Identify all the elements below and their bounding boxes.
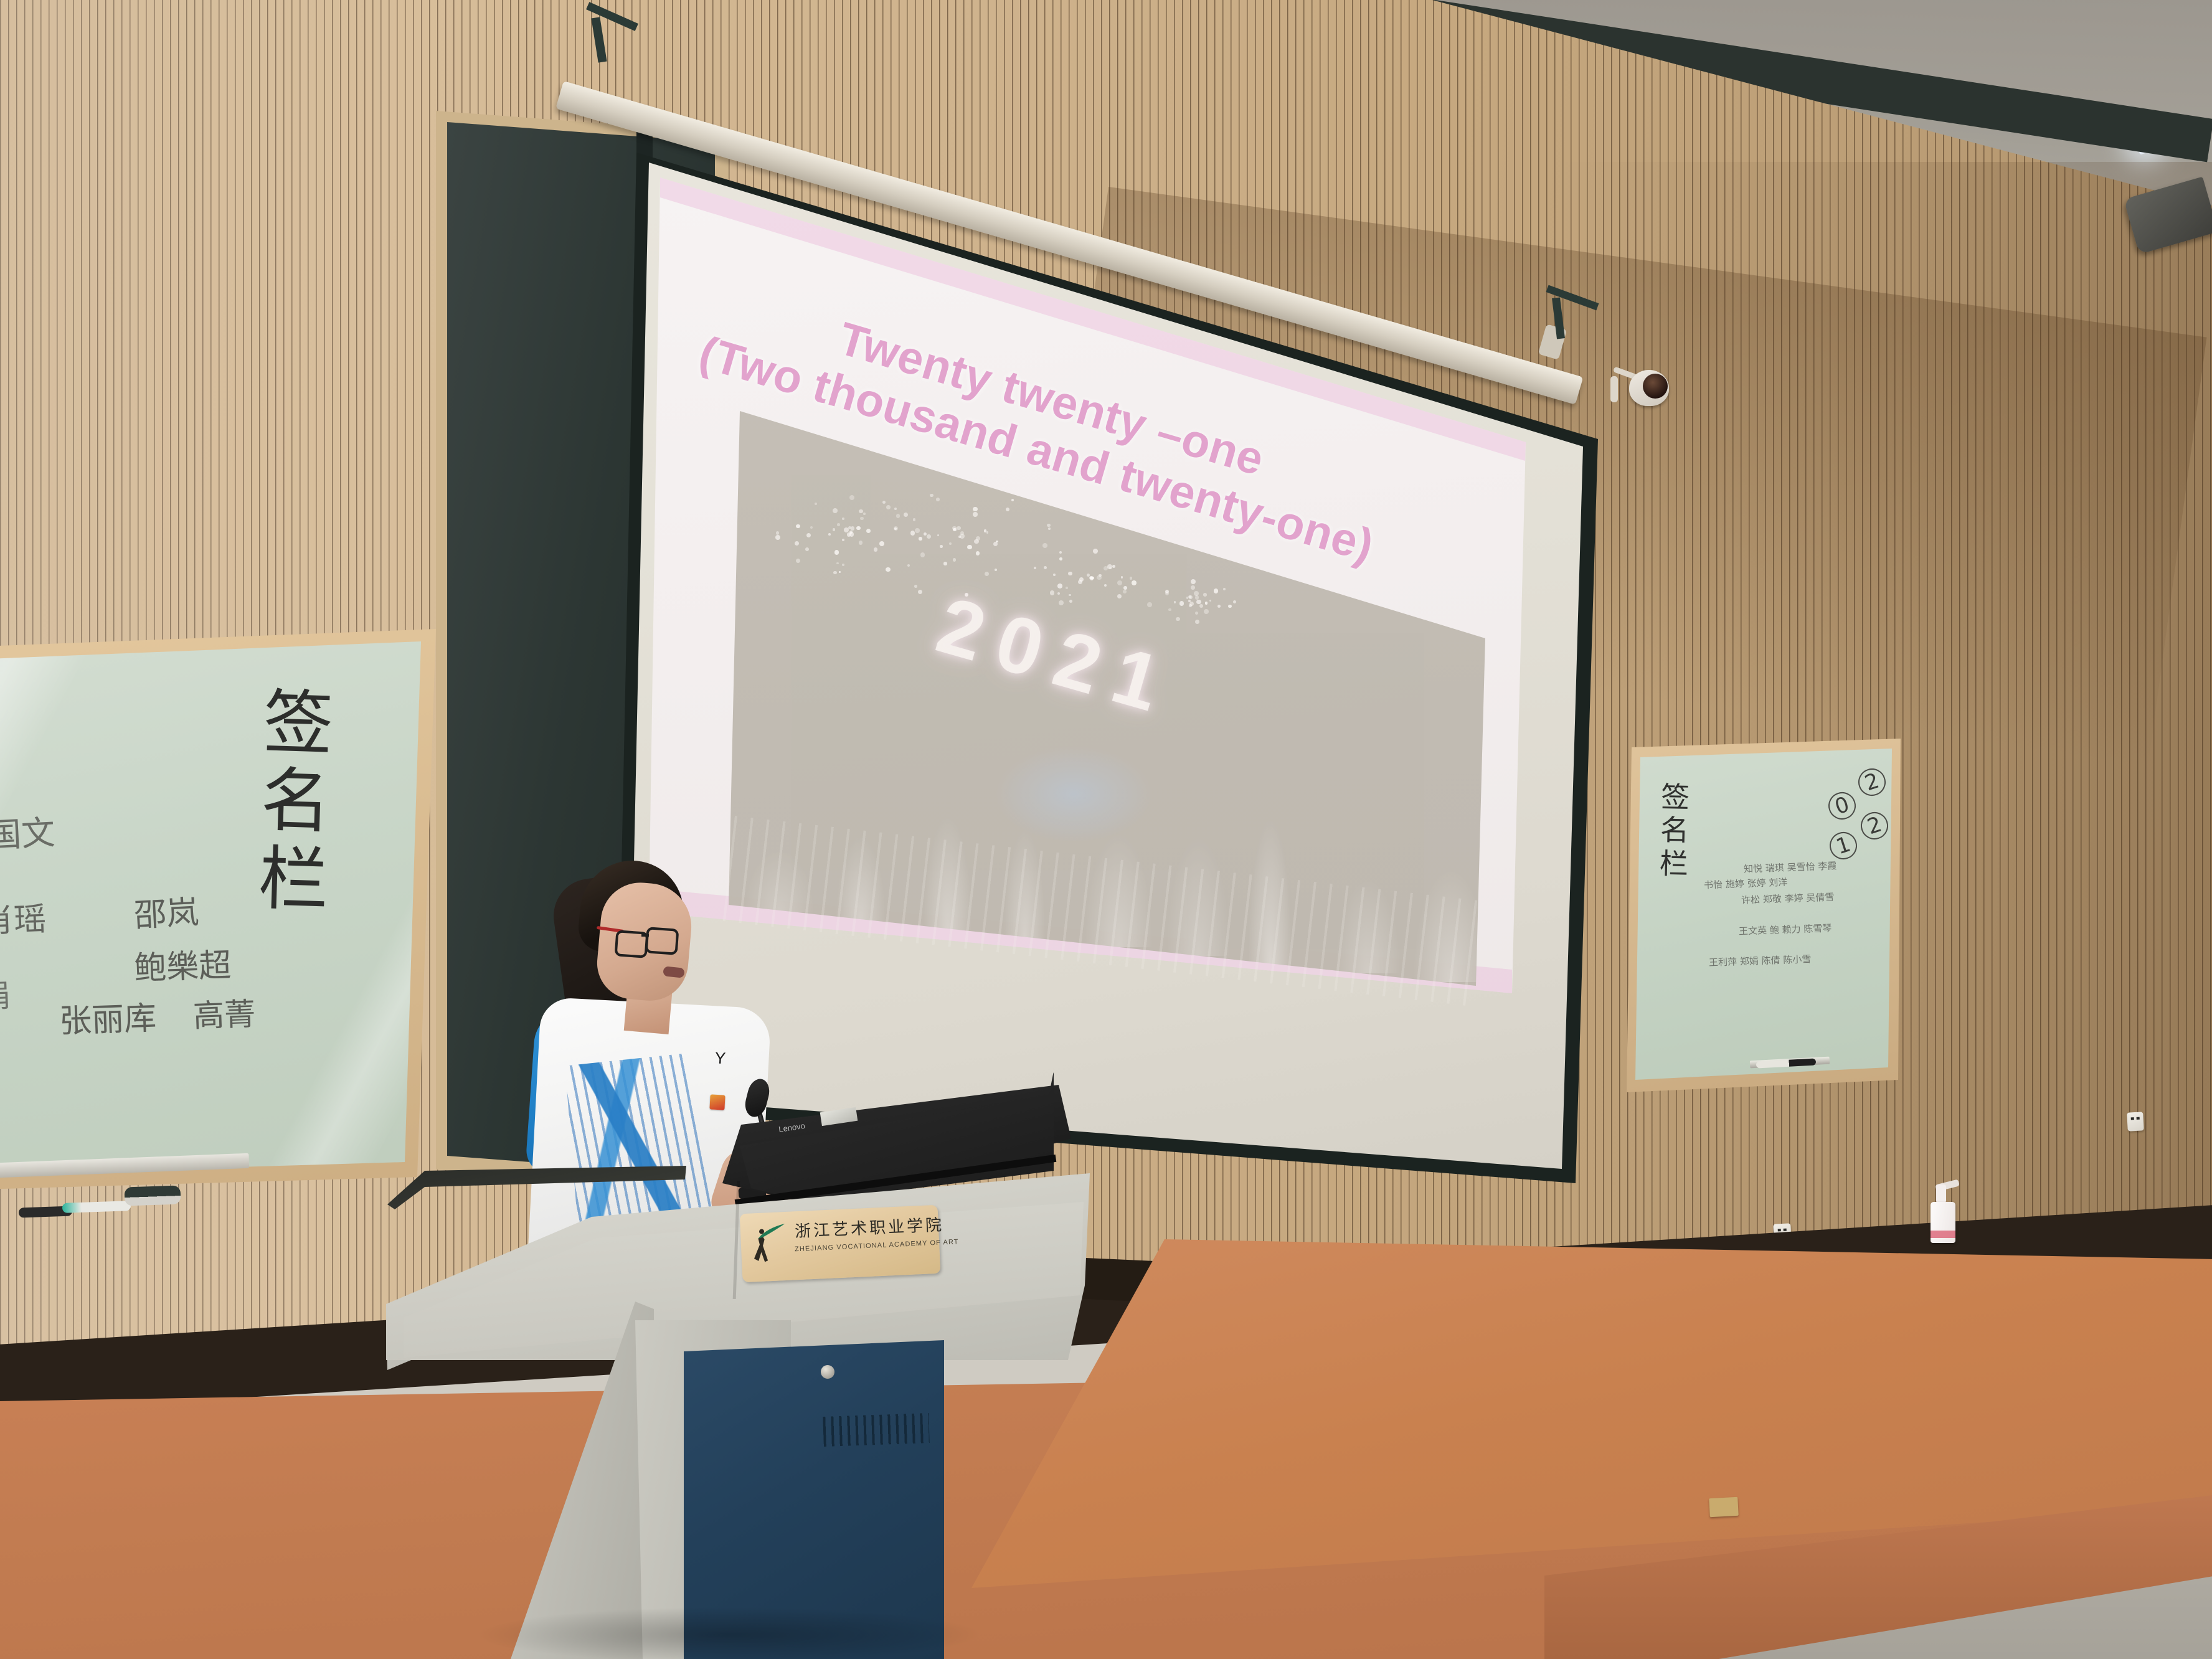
firework-dot — [776, 531, 780, 535]
firework-dot — [940, 545, 943, 548]
firework-dot — [1042, 543, 1047, 548]
firework-dot — [993, 542, 998, 546]
wb-left-char-3: 栏 — [245, 839, 341, 920]
firework-dot — [914, 585, 917, 588]
lapel-badge — [709, 1094, 725, 1110]
firework-dot — [833, 571, 837, 575]
year-digit-2b: 2 — [1857, 808, 1891, 843]
firework-dot — [1168, 608, 1171, 612]
camera-lens-icon — [1643, 374, 1668, 399]
firework-dot — [874, 547, 877, 551]
glasses-bridge — [641, 934, 649, 937]
firework-dot — [985, 572, 989, 576]
firework-dot — [837, 523, 839, 526]
firework-dot — [796, 524, 800, 528]
firework-dot — [1195, 595, 1199, 599]
firework-dot — [1199, 604, 1203, 608]
firework-dot — [894, 508, 897, 510]
whiteboard-eraser[interactable] — [125, 1185, 181, 1206]
firework-dot — [1053, 574, 1056, 576]
firework-dot — [924, 532, 927, 536]
firework-dot — [1205, 602, 1208, 604]
firework-dot — [1057, 584, 1062, 588]
firework-dot — [836, 562, 838, 564]
firework-dot — [919, 537, 922, 541]
firework-dot — [828, 533, 831, 536]
firework-dot — [796, 559, 800, 563]
firework-dot — [1117, 580, 1122, 585]
firework-dot — [1117, 594, 1122, 598]
firework-dot — [1191, 585, 1195, 590]
cabinet-lock-icon[interactable] — [821, 1365, 834, 1379]
firework-dot — [1132, 580, 1137, 585]
firework-dot — [1233, 600, 1237, 604]
firework-dot — [863, 513, 866, 515]
firework-dot — [976, 551, 980, 555]
firework-dot — [859, 541, 863, 545]
firework-dot — [896, 514, 900, 518]
jersey-brand-logo: Y — [714, 1049, 730, 1066]
signature-left-2: 肖瑶 — [0, 892, 47, 942]
firework-dot — [1174, 601, 1176, 603]
firework-dot — [866, 529, 871, 533]
firework-dot — [949, 542, 952, 545]
firework-dot — [833, 508, 838, 513]
firework-dot — [1195, 620, 1199, 624]
firework-dot — [920, 552, 925, 557]
podium-floor-shadow — [473, 1607, 984, 1659]
year-digit-1: 1 — [1826, 828, 1860, 863]
firework-dot — [849, 495, 854, 500]
firework-dot — [1204, 609, 1209, 614]
firework-dot — [1195, 612, 1198, 615]
small-object-on-stage[interactable] — [1709, 1497, 1739, 1517]
signature-left-4: 鲍樂超 — [133, 938, 232, 988]
firework-dot — [1066, 587, 1069, 590]
firework-dot — [1059, 600, 1064, 605]
firework-dot — [937, 534, 939, 536]
firework-dot — [986, 531, 989, 534]
firework-dot — [1050, 590, 1054, 595]
firework-dot — [1069, 600, 1072, 603]
firework-dot — [879, 541, 884, 546]
firework-dot — [882, 501, 886, 504]
firework-dot — [1228, 605, 1232, 608]
firework-dot — [815, 503, 818, 506]
wb-left-char-2: 名 — [248, 762, 344, 843]
firework-dot — [886, 567, 891, 572]
whiteboard-left-glare — [0, 629, 436, 1189]
signature-left-5: 娟 — [0, 971, 11, 1017]
firework-dot — [1214, 588, 1218, 593]
firework-dot — [953, 558, 956, 561]
firework-dot — [894, 526, 898, 531]
firework-dot — [943, 562, 947, 565]
firework-dot — [1044, 566, 1047, 569]
firework-dot — [886, 505, 891, 509]
firework-dot — [1069, 594, 1071, 597]
firework-dot — [1059, 551, 1062, 554]
firework-dot — [810, 526, 813, 529]
whiteboard-left-title: 签 名 栏 — [245, 684, 346, 921]
wb-right-char-2: 名 — [1655, 814, 1694, 848]
firework-dot — [1068, 572, 1072, 575]
firework-dot — [842, 518, 844, 520]
firework-dot — [1059, 557, 1062, 560]
firework-dot — [849, 532, 854, 536]
firework-dot — [918, 590, 922, 594]
firework-dot — [976, 536, 980, 541]
firework-dot — [842, 564, 844, 566]
firework-dot — [1203, 593, 1207, 597]
firework-dot — [1196, 600, 1201, 605]
firework-dot — [984, 529, 986, 532]
firework-dot — [967, 545, 971, 549]
firework-dot — [913, 518, 915, 521]
firework-dot — [904, 513, 909, 518]
firework-dot — [795, 541, 799, 546]
firework-dot — [1176, 617, 1180, 622]
firework-dot — [1121, 576, 1123, 578]
glasses-lens-right — [645, 927, 679, 955]
firework-dot — [1130, 577, 1133, 580]
firework-dot — [806, 533, 811, 537]
signature-left-7: 高菁 — [192, 989, 256, 1036]
firework-dot — [805, 547, 809, 551]
firework-dot — [915, 528, 920, 533]
firework-dot — [1104, 584, 1107, 587]
firework-dot — [1097, 575, 1101, 580]
firework-dot — [957, 526, 961, 531]
firework-dot — [1112, 565, 1115, 568]
firework-dot — [1123, 586, 1127, 590]
firework-dot — [1189, 595, 1193, 600]
firework-dot — [1209, 600, 1211, 602]
firework-dot — [851, 526, 854, 530]
signature-left-6: 张丽库 — [59, 991, 158, 1041]
signature-left-1: 国文 — [0, 805, 56, 858]
firework-dot — [1109, 567, 1112, 569]
firework-dot — [1179, 601, 1184, 605]
firework-dot — [907, 564, 910, 567]
wb-right-char-1: 签 — [1656, 780, 1695, 815]
cabinet-vent-slots — [823, 1413, 930, 1447]
firework-dot — [856, 526, 860, 530]
firework-dot — [927, 534, 931, 539]
firework-dot — [859, 509, 863, 513]
dancer-logo-icon — [750, 1221, 789, 1269]
firework-dot — [1078, 580, 1082, 584]
firework-dot — [839, 571, 841, 573]
sanitizer-label — [1931, 1231, 1955, 1238]
signature-left-3: 邵岚 — [133, 886, 200, 935]
firework-dot — [952, 526, 957, 531]
wb-left-char-1: 签 — [250, 684, 346, 765]
firework-dot — [1123, 590, 1127, 593]
whiteboard-right-year: 2 0 2 1 — [1825, 771, 1893, 864]
firework-dot — [1034, 567, 1036, 569]
firework-dot — [833, 528, 836, 531]
firework-dot — [1147, 602, 1152, 607]
sanitizer-pump-icon[interactable] — [1936, 1184, 1946, 1203]
wall-outlet-right[interactable] — [2127, 1112, 2144, 1131]
camera-mount-post — [1610, 376, 1618, 402]
firework-dot — [860, 517, 864, 521]
lecture-hall-photo: 2021 Twenty twenty –one (Two thousand an… — [0, 0, 2212, 1659]
firework-dot — [834, 550, 839, 555]
firework-dot — [995, 569, 997, 571]
firework-dot — [842, 539, 844, 541]
firework-dot — [775, 535, 780, 540]
whiteboard-right-title: 签 名 栏 — [1654, 780, 1694, 881]
firework-dot — [1217, 605, 1221, 608]
firework-dot — [1189, 604, 1192, 607]
firework-dot — [1057, 592, 1060, 595]
firework-dot — [844, 527, 849, 532]
firework-dot — [1090, 577, 1094, 580]
year-digit-0: 0 — [1825, 788, 1859, 823]
wb-right-char-3: 栏 — [1654, 847, 1693, 881]
